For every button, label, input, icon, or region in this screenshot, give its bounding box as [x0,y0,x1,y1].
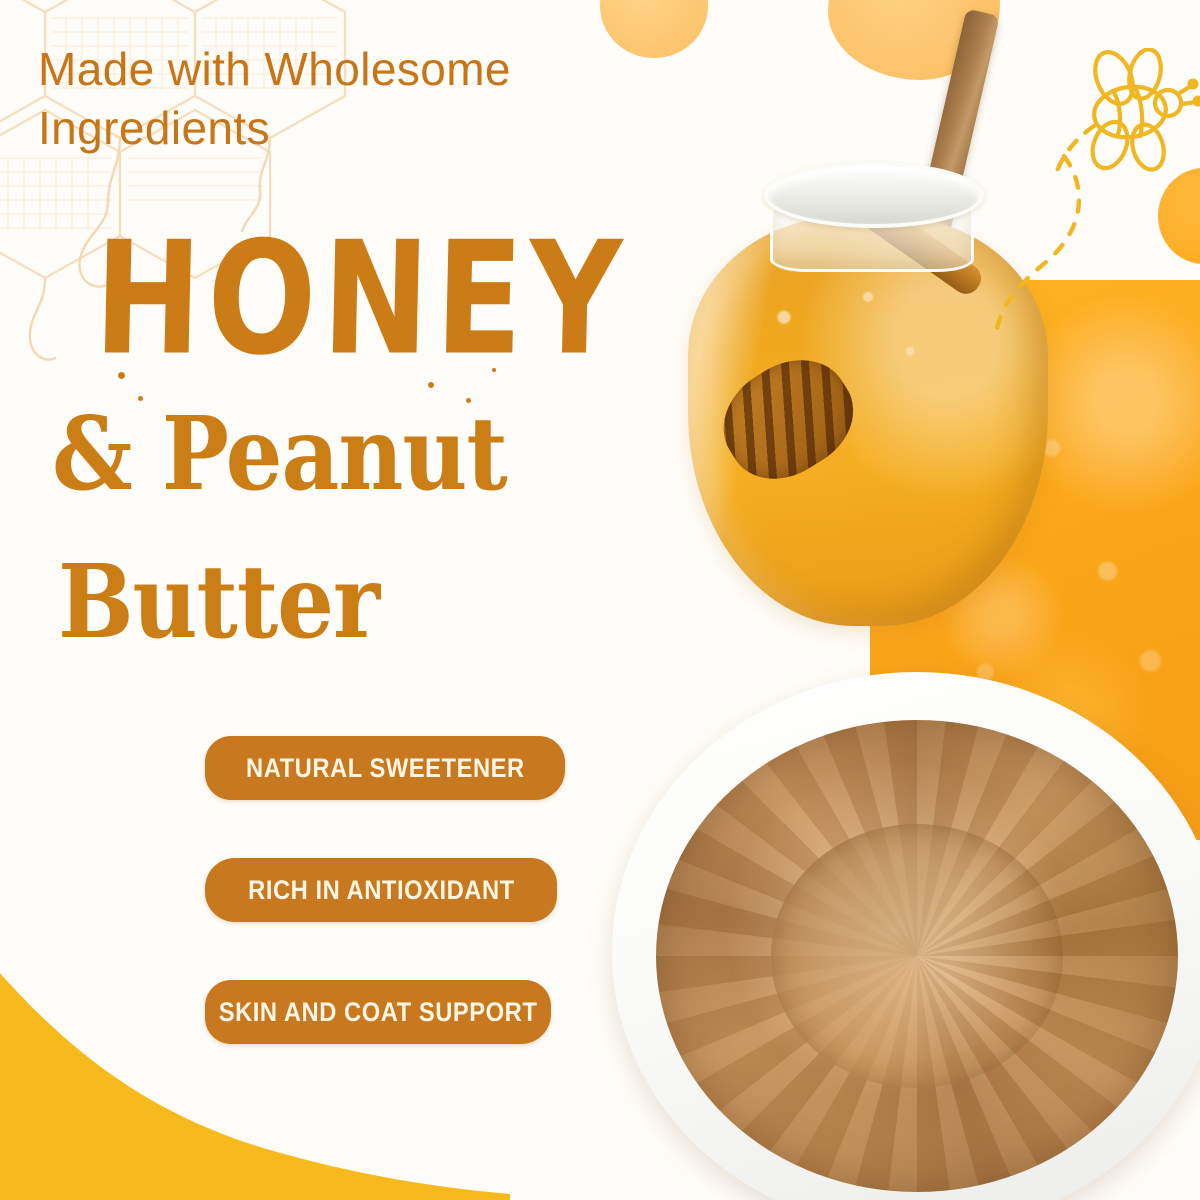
honey-drop-blob [1158,168,1200,264]
honey-drop-blob [828,0,1000,80]
benefit-pill-rich-in-antioxidant[interactable]: RICH IN ANTIOXIDANT [205,858,557,922]
page-title-peanut: & Peanut [52,404,507,505]
benefits-list: NATURAL SWEETENER RICH IN ANTIOXIDANT SK… [205,736,565,1044]
benefit-label: RICH IN ANTIOXIDANT [248,875,515,906]
bee-trail-icon [968,150,1118,340]
jar-rim [764,162,984,228]
peanut-butter-swirl [656,720,1178,1192]
jar-mouth [788,176,952,210]
benefit-label: SKIN AND COAT SUPPORT [219,997,538,1028]
honey-pool-shape [870,280,1200,840]
page-title-honey: HONEY [93,222,630,378]
kicker-text: Made with Wholesome Ingredients [38,40,738,158]
peanut-butter-bowl-image [612,672,1200,1200]
benefit-label: NATURAL SWEETENER [246,753,525,784]
honey-dipper-handle [910,9,999,260]
jar-neck [770,180,974,272]
promo-poster: Made with Wholesome Ingredients HONEY & … [0,0,1200,1200]
paint-splatter [118,372,125,379]
honey-bubbles [712,256,1012,596]
jar-body [688,216,1048,626]
bowl-rim [612,672,1200,1200]
benefit-pill-natural-sweetener[interactable]: NATURAL SWEETENER [205,736,565,800]
paint-splatter [492,368,496,372]
honey-dipper-head [704,339,872,499]
page-title-butter: Butter [58,552,379,653]
benefit-pill-skin-and-coat-support[interactable]: SKIN AND COAT SUPPORT [205,980,551,1044]
honey-jar-image [672,76,1064,636]
bee-icon [1052,48,1200,183]
paint-splatter [428,382,434,388]
honey-dipper-shaft [817,168,987,299]
